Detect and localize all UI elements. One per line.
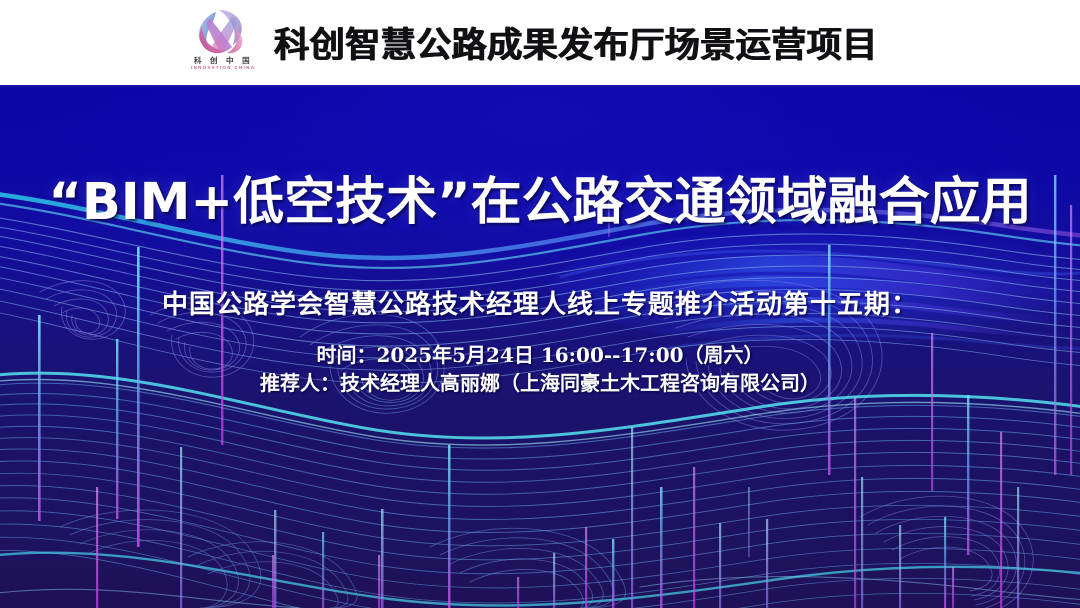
sub-title: 中国公路学会智慧公路技术经理人线上专题推介活动第十五期： [0,292,1080,318]
kechuang-china-butterfly-logo-icon: 科 创 中 国 INNOVATION CHINA [186,6,260,80]
poster-image: 科 创 中 国 INNOVATION CHINA 科创智慧公路成果发布厅场景运营… [0,0,1080,608]
logo-en-text: INNOVATION CHINA [186,66,260,70]
poster-text-content: “BIM+低空技术”在公路交通领域融合应用 中国公路学会智慧公路技术经理人线上专… [0,87,1080,608]
event-time-line: 时间：2025年5月24日 16:00--17:00（周六） [0,345,1080,365]
presenter-line: 推荐人：技术经理人高丽娜（上海同豪土木工程咨询有限公司） [0,373,1080,393]
main-title: “BIM+低空技术”在公路交通领域融合应用 [0,177,1080,228]
poster-body: “BIM+低空技术”在公路交通领域融合应用 中国公路学会智慧公路技术经理人线上专… [0,87,1080,608]
header-inner: 科 创 中 国 INNOVATION CHINA 科创智慧公路成果发布厅场景运营… [186,6,878,80]
header-bar: 科 创 中 国 INNOVATION CHINA 科创智慧公路成果发布厅场景运营… [0,0,1080,87]
header-title: 科创智慧公路成果发布厅场景运营项目 [274,17,878,68]
logo-cn-text: 科 创 中 国 [186,57,260,65]
